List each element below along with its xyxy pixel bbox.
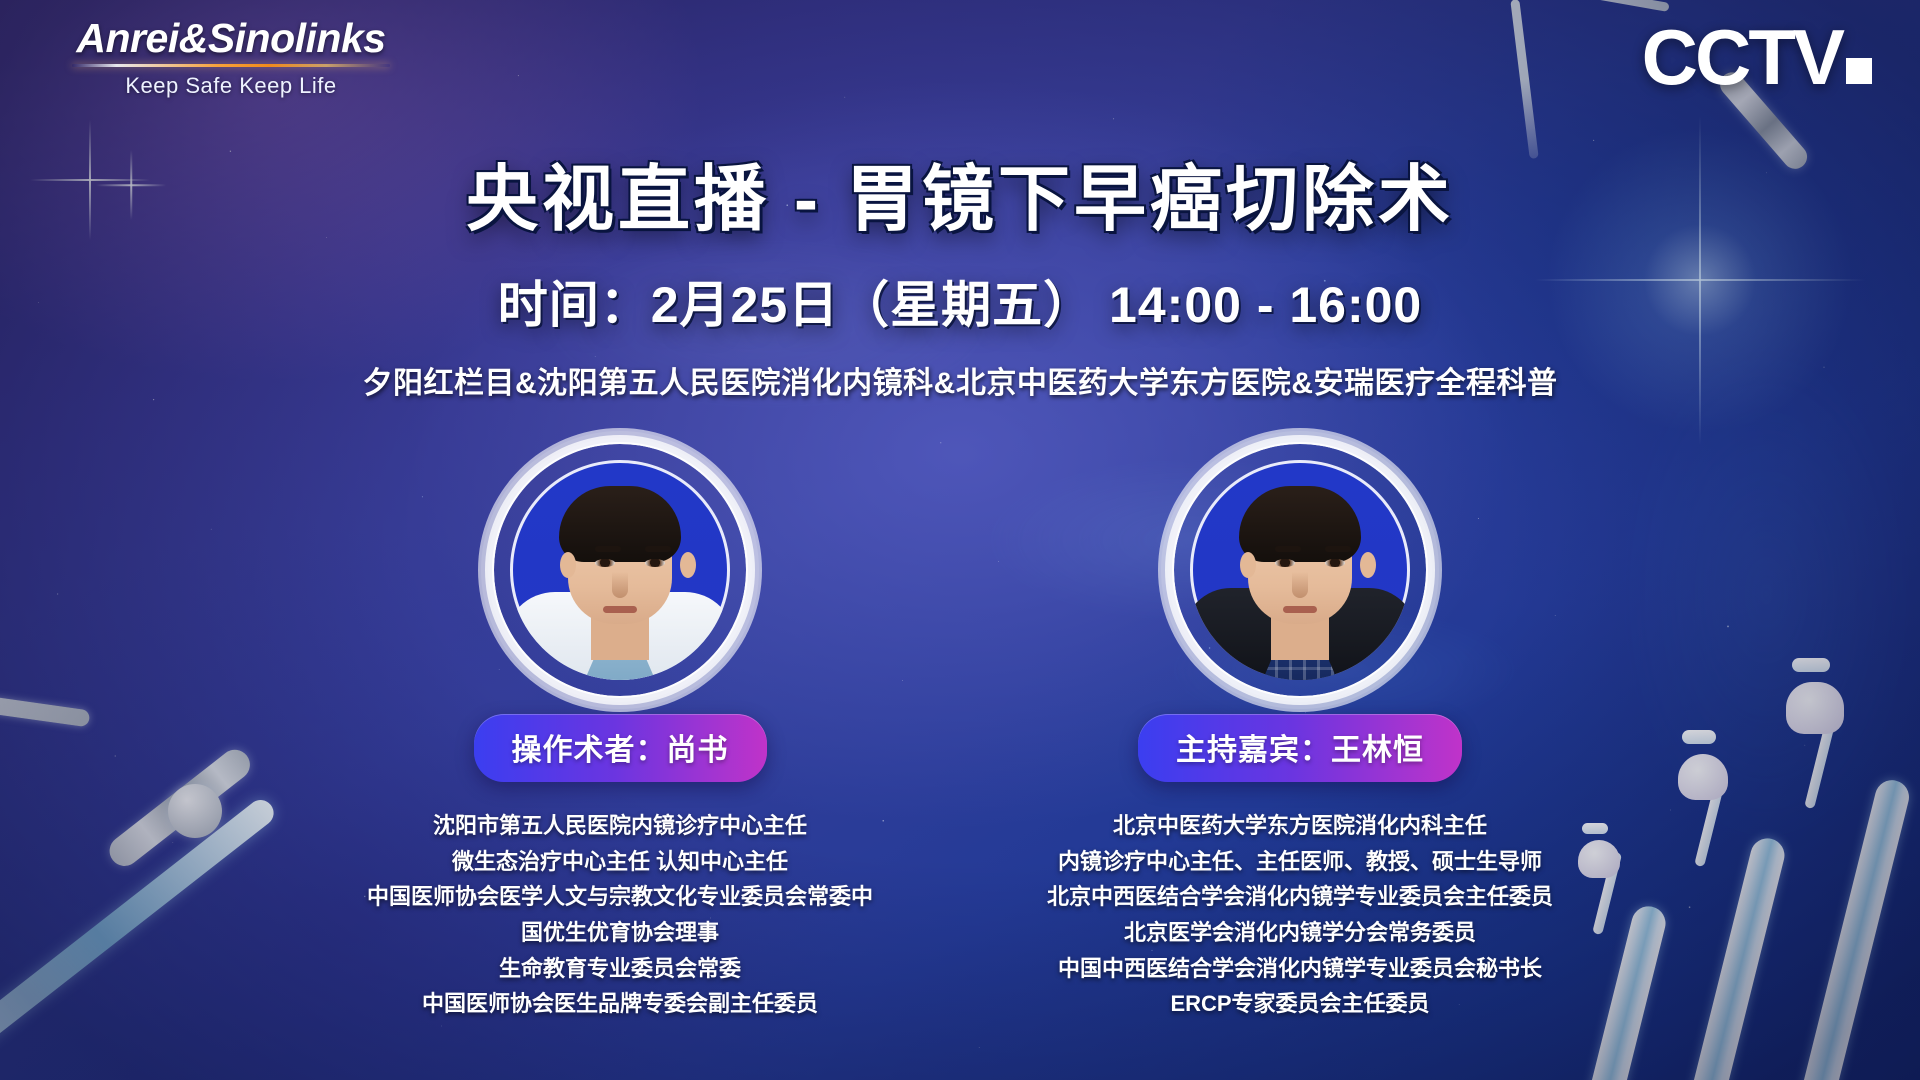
portrait-mouth [603, 606, 637, 613]
portrait-nose [612, 572, 628, 598]
live-broadcast-poster: Anrei&Sinolinks Keep Safe Keep Life CCTV… [0, 0, 1920, 1080]
portrait-brow-left [1275, 546, 1301, 552]
portrait-eye-right [645, 559, 665, 567]
credential-item: 内镜诊疗中心主任、主任医师、教授、硕士生导师 [1040, 844, 1560, 880]
cctv-logo-dot-icon [1846, 58, 1872, 84]
portrait-brow-right [1325, 546, 1351, 552]
portrait-ear-left [1240, 552, 1256, 578]
page-title: 央视直播 - 胃镜下早癌切除术 [0, 140, 1920, 245]
brand-divider [72, 64, 390, 67]
credential-item: 微生态治疗中心主任 认知中心主任 [360, 844, 880, 880]
endoscopic-forceps-device-icon [0, 700, 360, 1080]
portrait-mouth [1283, 606, 1317, 613]
credential-item: 中国医师协会医生品牌专委会副主任委员 [360, 986, 880, 1022]
person-badge-operator: 操作术者：尚书 [474, 714, 767, 782]
credential-item: 国优生优育协会理事 [360, 915, 880, 951]
organizers-line: 夕阳红栏目&沈阳第五人民医院消化内镜科&北京中医药大学东方医院&安瑞医疗全程科普 [0, 358, 1920, 402]
person-card-operator: 操作术者：尚书 沈阳市第五人民医院内镜诊疗中心主任 微生态治疗中心主任 认知中心… [360, 460, 880, 1022]
portrait-eye-left [595, 559, 615, 567]
cctv-logo-text: CCTV [1642, 13, 1842, 101]
avatar-frame-host [1190, 460, 1410, 680]
portrait-brow-left [595, 546, 621, 552]
brand-logo: Anrei&Sinolinks Keep Safe Keep Life [66, 18, 396, 99]
credential-item: 北京中医药大学东方医院消化内科主任 [1040, 808, 1560, 844]
credential-item: 生命教育专业委员会常委 [360, 951, 880, 987]
brand-wordmark: Anrei&Sinolinks [66, 18, 396, 59]
credential-item: 中国医师协会医学人文与宗教文化专业委员会常委中 [360, 879, 880, 915]
portrait-nose [1292, 572, 1308, 598]
avatar-host [1190, 460, 1410, 680]
portrait-ear-right [680, 552, 696, 578]
brand-tagline: Keep Safe Keep Life [66, 73, 396, 99]
person-card-host: 主持嘉宾：王林恒 北京中医药大学东方医院消化内科主任 内镜诊疗中心主任、主任医师… [1040, 460, 1560, 1022]
portrait-ear-right [1360, 552, 1376, 578]
portrait-brow-right [645, 546, 671, 552]
credential-item: 北京医学会消化内镜学分会常务委员 [1040, 915, 1560, 951]
credential-item: 北京中西医结合学会消化内镜学专业委员会主任委员 [1040, 879, 1560, 915]
person-badge-host: 主持嘉宾：王林恒 [1138, 714, 1462, 782]
credentials-list-host: 北京中医药大学东方医院消化内科主任 内镜诊疗中心主任、主任医师、教授、硕士生导师… [1040, 808, 1560, 1022]
broadcast-time: 时间：2月25日（星期五） 14:00 - 16:00 [0, 265, 1920, 337]
portrait-eye-left [1275, 559, 1295, 567]
injection-needle-devices-icon [1570, 730, 1920, 1080]
credential-item: 中国中西医结合学会消化内镜学专业委员会秘书长 [1040, 951, 1560, 987]
portrait-eye-right [1325, 559, 1345, 567]
credential-item: 沈阳市第五人民医院内镜诊疗中心主任 [360, 808, 880, 844]
avatar-operator [510, 460, 730, 680]
cctv-logo: CCTV [1642, 18, 1872, 96]
credentials-list-operator: 沈阳市第五人民医院内镜诊疗中心主任 微生态治疗中心主任 认知中心主任 中国医师协… [360, 808, 880, 1022]
credential-item: ERCP专家委员会主任委员 [1040, 986, 1560, 1022]
avatar-frame-operator [510, 460, 730, 680]
portrait-ear-left [560, 552, 576, 578]
